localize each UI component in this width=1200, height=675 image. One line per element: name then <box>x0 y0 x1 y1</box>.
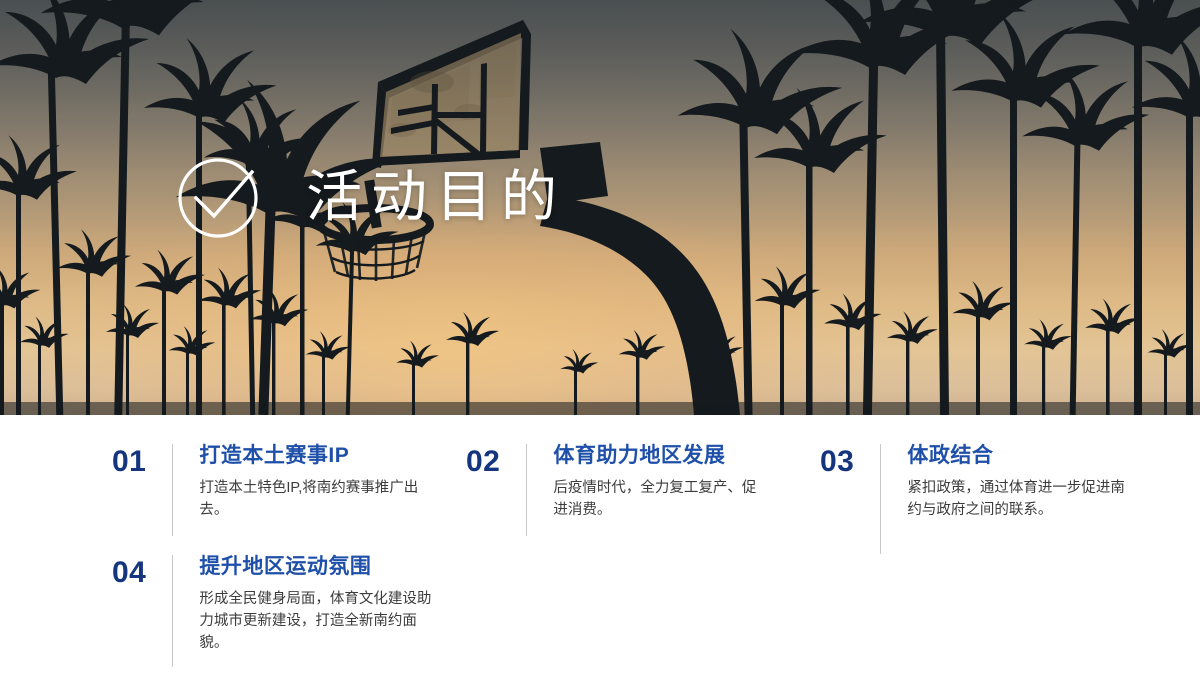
objective-description: 打造本土特色IP,将南约赛事推广出去。 <box>199 477 419 521</box>
vertical-divider <box>172 555 173 667</box>
vertical-divider <box>526 444 527 536</box>
vertical-divider <box>880 444 881 554</box>
objective-number: 04 <box>112 555 146 588</box>
objective-title: 提升地区运动氛围 <box>199 555 434 578</box>
objective-item-02[interactable]: 02 体育助力地区发展 后疫情时代，全力复工复产、促进消费。 <box>466 444 769 536</box>
objective-item-01[interactable]: 01 打造本土赛事IP 打造本土特色IP,将南约赛事推广出去。 <box>112 444 419 536</box>
objective-number: 03 <box>820 444 854 477</box>
objectives-panel: 01 打造本土赛事IP 打造本土特色IP,将南约赛事推广出去。 02 体育助力地… <box>0 415 1200 675</box>
objective-title: 打造本土赛事IP <box>199 444 419 467</box>
objective-item-03[interactable]: 03 体政结合 紧扣政策，通过体育进一步促进南约与政府之间的联系。 <box>820 444 1137 554</box>
objective-title: 体政结合 <box>907 444 1137 467</box>
vertical-divider <box>172 444 173 536</box>
objective-description: 紧扣政策，通过体育进一步促进南约与政府之间的联系。 <box>907 477 1137 521</box>
objective-number: 01 <box>112 444 146 477</box>
objective-body: 提升地区运动氛围 形成全民健身局面，体育文化建设助力城市更新建设，打造全新南约面… <box>199 555 434 654</box>
objective-number: 02 <box>466 444 500 477</box>
objective-body: 体育助力地区发展 后疫情时代，全力复工复产、促进消费。 <box>553 444 769 521</box>
objective-body: 打造本土赛事IP 打造本土特色IP,将南约赛事推广出去。 <box>199 444 419 521</box>
objective-description: 形成全民健身局面，体育文化建设助力城市更新建设，打造全新南约面貌。 <box>199 588 434 654</box>
check-circle-icon <box>172 152 264 244</box>
objective-body: 体政结合 紧扣政策，通过体育进一步促进南约与政府之间的联系。 <box>907 444 1137 521</box>
page-title: 活动目的 <box>306 170 566 226</box>
hero-photo: 活动目的 <box>0 0 1200 415</box>
slide-title-row: 活动目的 <box>172 152 566 244</box>
objective-title: 体育助力地区发展 <box>553 444 769 467</box>
objective-item-04[interactable]: 04 提升地区运动氛围 形成全民健身局面，体育文化建设助力城市更新建设，打造全新… <box>112 555 434 667</box>
objective-description: 后疫情时代，全力复工复产、促进消费。 <box>553 477 769 521</box>
